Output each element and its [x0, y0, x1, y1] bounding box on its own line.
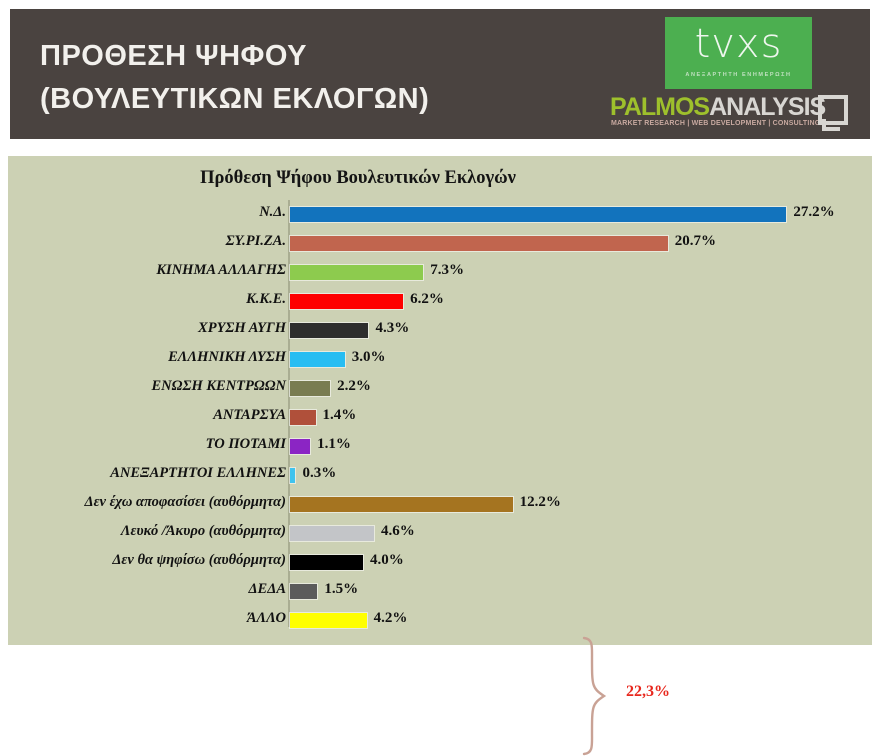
page-title: ΠΡΟΘΕΣΗ ΨΗΦΟΥ (ΒΟΥΛΕΥΤΙΚΩΝ ΕΚΛΟΓΩΝ) [40, 35, 600, 121]
bar-value-label: 4.2% [374, 610, 408, 627]
bar-category-label: Λευκό /Άκυρο (αυθόρμητα) [121, 523, 286, 540]
bar-segment [290, 468, 295, 483]
bar-value-label: 4.3% [375, 320, 409, 337]
palmos-word-analysis: ANALYSIS [709, 93, 825, 121]
bar-category-label: ΤΟ ΠΟΤΑΜΙ [206, 436, 286, 453]
bar-row: Κ.Κ.Ε.6.2% [8, 287, 872, 316]
palmos-tagline: MARKET RESEARCH | WEB DEVELOPMENT | CONS… [611, 120, 823, 127]
logo-group: tvxs ΑΝΕΞΑΡΤΗΤΗ ΕΝΗΜΕΡΩΣΗ PALMOSANALYSIS… [610, 17, 848, 135]
bar-value-label: 6.2% [410, 291, 444, 308]
tvxs-logo: tvxs ΑΝΕΞΑΡΤΗΤΗ ΕΝΗΜΕΡΩΣΗ [665, 17, 812, 89]
slide-root: ΠΡΟΘΕΣΗ ΨΗΦΟΥ (ΒΟΥΛΕΥΤΙΚΩΝ ΕΚΛΟΓΩΝ) tvxs… [0, 0, 880, 659]
bar-row: ΆΛΛΟ4.2% [8, 606, 872, 635]
palmos-word-palmos: PALMOS [610, 93, 709, 121]
bar-row: ΔΕΔΑ1.5% [8, 577, 872, 606]
bar-row: Ν.Δ.27.2% [8, 200, 872, 229]
bar-value-label: 2.2% [337, 378, 371, 395]
bar-value-label: 0.3% [302, 465, 336, 482]
bar-segment [290, 410, 316, 425]
bar-category-label: Ν.Δ. [259, 204, 286, 221]
bar-row: ΕΝΩΣΗ ΚΕΝΤΡΩΩΝ2.2% [8, 374, 872, 403]
bar-row: ΤΟ ΠΟΤΑΜΙ1.1% [8, 432, 872, 461]
bar-segment [290, 381, 330, 396]
bar-row: ΑΝΕΞΑΡΤΗΤΟΙ ΕΛΛΗΝΕΣ0.3% [8, 461, 872, 490]
bar-category-label: Δεν θα ψηφίσω (αυθόρμητα) [112, 552, 286, 569]
page-title-line2: (ΒΟΥΛΕΥΤΙΚΩΝ ΕΚΛΟΓΩΝ) [40, 78, 600, 121]
bar-segment [290, 294, 403, 309]
chart-panel: Πρόθεση Ψήφου Βουλευτικών Εκλογών Ν.Δ.27… [8, 156, 872, 645]
chart-title: Πρόθεση Ψήφου Βουλευτικών Εκλογών [8, 168, 708, 189]
page-title-line1: ΠΡΟΘΕΣΗ ΨΗΦΟΥ [40, 40, 307, 72]
bar-segment [290, 584, 317, 599]
bar-chart-plot: Ν.Δ.27.2%ΣΥ.ΡΙ.ΖΑ.20.7%ΚΙΝΗΜΑ ΑΛΛΑΓΗΣ7.3… [8, 196, 872, 636]
bar-value-label: 7.3% [430, 262, 464, 279]
bar-segment [290, 323, 368, 338]
bar-segment [290, 613, 367, 628]
bar-value-label: 4.0% [370, 552, 404, 569]
bar-row: Λευκό /Άκυρο (αυθόρμητα)4.6% [8, 519, 872, 548]
bar-category-label: ΆΛΛΟ [247, 610, 286, 627]
palmos-square-icon [818, 95, 844, 131]
tvxs-tagline: ΑΝΕΞΑΡΤΗΤΗ ΕΝΗΜΕΡΩΣΗ [665, 71, 812, 79]
bar-segment [290, 352, 345, 367]
bar-value-label: 27.2% [793, 204, 834, 221]
palmos-wordmark: PALMOSANALYSIS [610, 93, 824, 120]
bar-category-label: ΑΝΕΞΑΡΤΗΤΟΙ ΕΛΛΗΝΕΣ [110, 465, 286, 482]
bar-row: ΣΥ.ΡΙ.ΖΑ.20.7% [8, 229, 872, 258]
palmos-analysis-logo: PALMOSANALYSIS MARKET RESEARCH | WEB DEV… [610, 93, 848, 135]
bar-row: ΚΙΝΗΜΑ ΑΛΛΑΓΗΣ7.3% [8, 258, 872, 287]
bar-row: ΧΡΥΣΗ ΑΥΓΗ4.3% [8, 316, 872, 345]
bar-segment [290, 497, 513, 512]
bar-value-label: 1.4% [323, 407, 357, 424]
bar-value-label: 20.7% [675, 233, 716, 250]
bar-category-label: ΔΕΔΑ [248, 581, 286, 598]
bar-value-label: 1.5% [324, 581, 358, 598]
bar-value-label: 1.1% [317, 436, 351, 453]
bar-segment [290, 236, 668, 251]
bar-category-label: ΕΝΩΣΗ ΚΕΝΤΡΩΩΝ [152, 378, 286, 395]
bar-category-label: Κ.Κ.Ε. [246, 291, 286, 308]
bar-category-label: ΧΡΥΣΗ ΑΥΓΗ [198, 320, 286, 337]
bar-category-label: Δεν έχω αποφασίσει (αυθόρμητα) [85, 494, 287, 511]
bar-value-label: 4.6% [381, 523, 415, 540]
bar-category-label: ΣΥ.ΡΙ.ΖΑ. [226, 233, 286, 250]
spontaneous-group-brace [580, 636, 614, 756]
bar-category-label: ΑΝΤΑΡΣΥΑ [213, 407, 286, 424]
bar-row: Δεν έχω αποφασίσει (αυθόρμητα)12.2% [8, 490, 872, 519]
spontaneous-total-label: 22,3% [626, 683, 670, 701]
bar-segment [290, 207, 786, 222]
bar-segment [290, 265, 423, 280]
bar-value-label: 3.0% [352, 349, 386, 366]
slide-header: ΠΡΟΘΕΣΗ ΨΗΦΟΥ (ΒΟΥΛΕΥΤΙΚΩΝ ΕΚΛΟΓΩΝ) tvxs… [10, 9, 870, 139]
tvxs-wordmark: tvxs [665, 19, 812, 71]
bar-row: ΑΝΤΑΡΣΥΑ1.4% [8, 403, 872, 432]
bar-value-label: 12.2% [520, 494, 561, 511]
bar-segment [290, 439, 310, 454]
bar-segment [290, 555, 363, 570]
bar-row: Δεν θα ψηφίσω (αυθόρμητα)4.0% [8, 548, 872, 577]
bar-category-label: ΕΛΛΗΝΙΚΗ ΛΥΣΗ [168, 349, 286, 366]
bar-segment [290, 526, 374, 541]
bar-category-label: ΚΙΝΗΜΑ ΑΛΛΑΓΗΣ [156, 262, 286, 279]
bar-row: ΕΛΛΗΝΙΚΗ ΛΥΣΗ3.0% [8, 345, 872, 374]
